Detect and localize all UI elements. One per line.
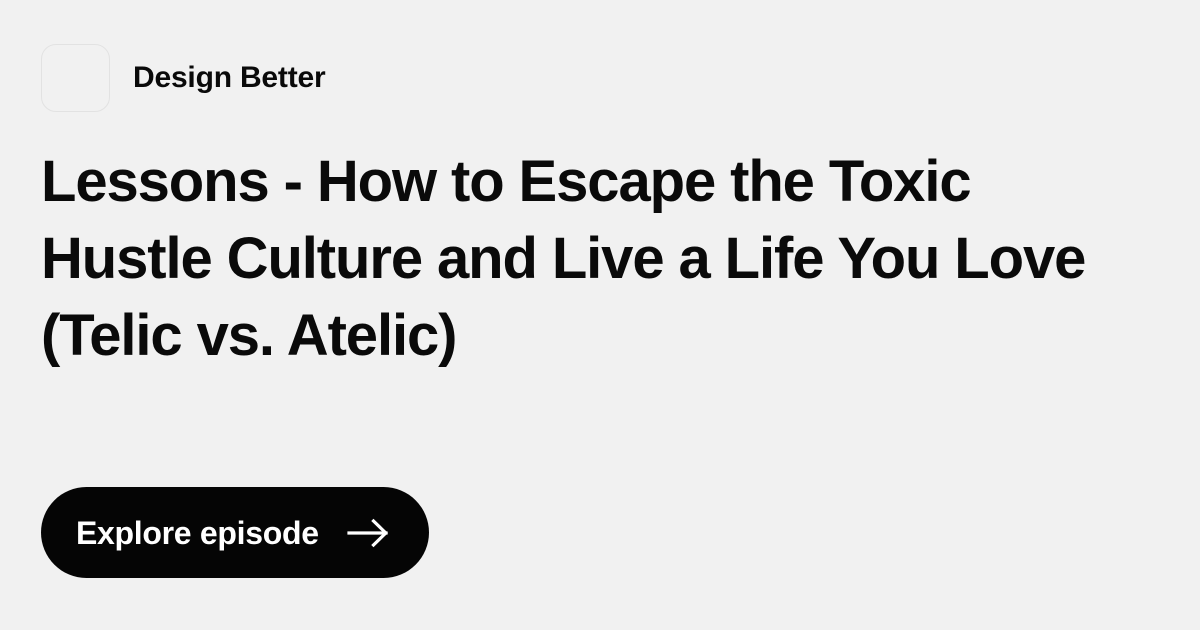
cta-container: Explore episode <box>41 487 1159 578</box>
explore-episode-label: Explore episode <box>76 517 319 549</box>
brand-name: Design Better <box>133 63 325 93</box>
brand-row: Design Better <box>41 44 1159 112</box>
episode-share-card: Design Better Lessons - How to Escape th… <box>0 0 1200 630</box>
arrow-right-icon <box>347 518 389 548</box>
explore-episode-button[interactable]: Explore episode <box>41 487 429 578</box>
podcast-logo-placeholder-icon <box>41 44 110 112</box>
page-title: Lessons - How to Escape the Toxic Hustle… <box>41 143 1106 374</box>
